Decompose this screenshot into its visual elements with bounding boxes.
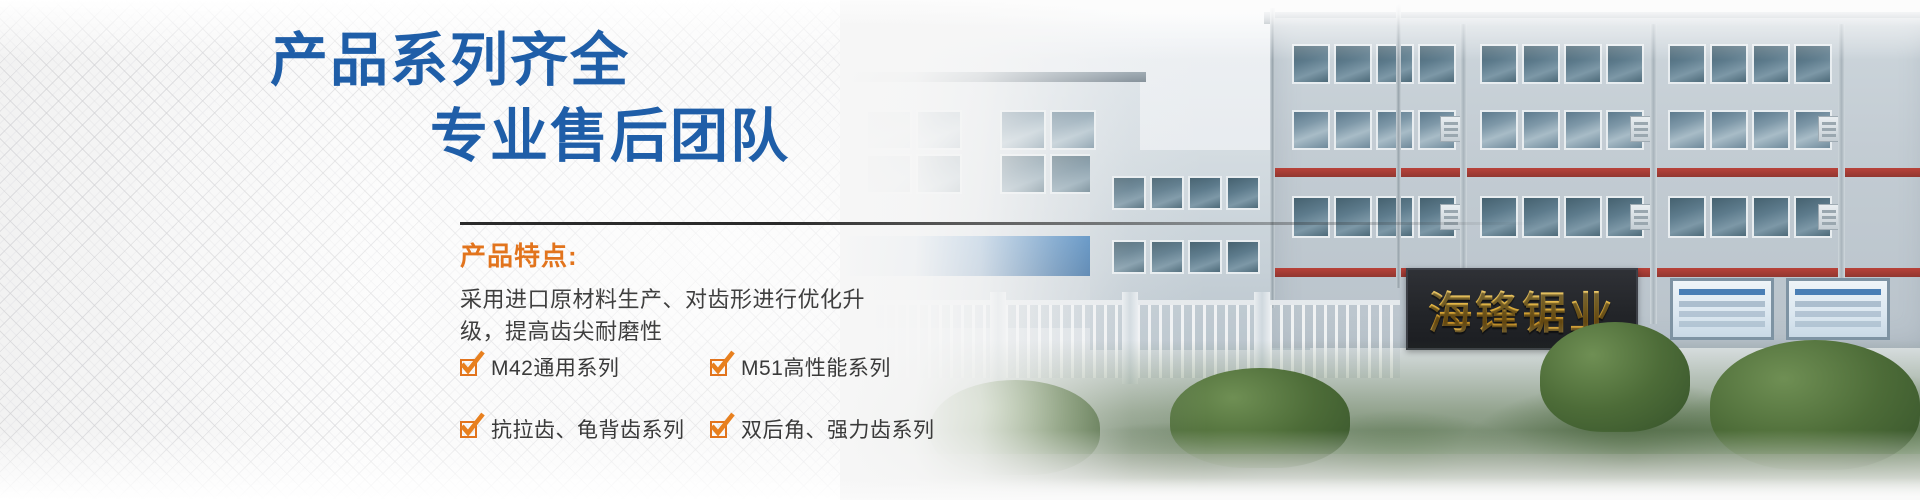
list-item-label: M42通用系列 xyxy=(491,352,619,382)
section-divider xyxy=(460,222,1540,225)
headline-line-2: 专业售后团队 xyxy=(0,98,820,174)
headline: 产品系列齐全 专业售后团队 xyxy=(0,22,820,174)
checkbox-checked-icon xyxy=(710,421,727,438)
photo-left-fade-mask xyxy=(840,0,1920,500)
feature-title: 产品特点: xyxy=(460,236,578,273)
checkbox-checked-icon xyxy=(710,359,727,376)
list-item-label: M51高性能系列 xyxy=(741,352,891,382)
list-item: 双后角、强力齿系列 xyxy=(710,414,960,444)
photo-top-fade-mask xyxy=(840,0,1920,26)
list-item-label: 抗拉齿、龟背齿系列 xyxy=(491,414,685,444)
list-item-label: 双后角、强力齿系列 xyxy=(741,414,935,444)
list-item: 抗拉齿、龟背齿系列 xyxy=(460,414,710,444)
headline-line-1: 产品系列齐全 xyxy=(0,22,820,98)
list-item: M42通用系列 xyxy=(460,352,710,382)
checkbox-checked-icon xyxy=(460,359,477,376)
photo-bottom-fade-mask xyxy=(840,478,1920,500)
checkbox-checked-icon xyxy=(460,421,477,438)
feature-checklist: M42通用系列 M51高性能系列 抗拉齿、龟背齿系列 xyxy=(460,352,880,444)
factory-photo: 海锋锯业 xyxy=(840,0,1920,500)
list-item: M51高性能系列 xyxy=(710,352,960,382)
banner-content: 产品系列齐全 专业售后团队 产品特点: 采用进口原材料生产、对齿形进行优化升级，… xyxy=(0,0,900,500)
feature-description: 采用进口原材料生产、对齿形进行优化升级，提高齿尖耐磨性 xyxy=(460,282,900,346)
promo-banner: 海锋锯业 产品系列齐全 专业售后团队 产品特点: 采用进口原材料生产、对齿形进行… xyxy=(0,0,1920,500)
